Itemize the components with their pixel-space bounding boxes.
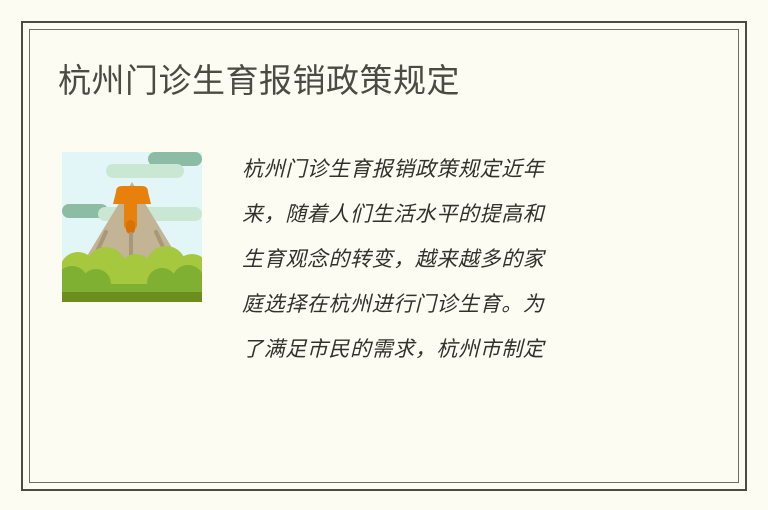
paragraph-line: 生育观念的转变，越来越多的家 (242, 237, 717, 282)
article-body: 杭州门诊生育报销政策规定近年 来，随着人们生活水平的提高和 生育观念的转变，越来… (58, 147, 717, 372)
cloud-band-top-right-icon (148, 152, 202, 166)
page-outer-frame: 杭州门诊生育报销政策规定 (21, 21, 747, 491)
paragraph-line: 了满足市民的需求，杭州市制定 (242, 327, 717, 372)
ground-strip (62, 292, 202, 302)
volcano-illustration (62, 152, 202, 302)
cloud-band-upper-icon (106, 164, 184, 178)
lava-flow-tip (126, 220, 135, 234)
paragraph-line: 杭州门诊生育报销政策规定近年 (242, 147, 717, 192)
paragraph-line: 庭选择在杭州进行门诊生育。为 (242, 282, 717, 327)
paragraph-line: 来，随着人们生活水平的提高和 (242, 192, 717, 237)
page-title: 杭州门诊生育报销政策规定 (58, 61, 460, 101)
